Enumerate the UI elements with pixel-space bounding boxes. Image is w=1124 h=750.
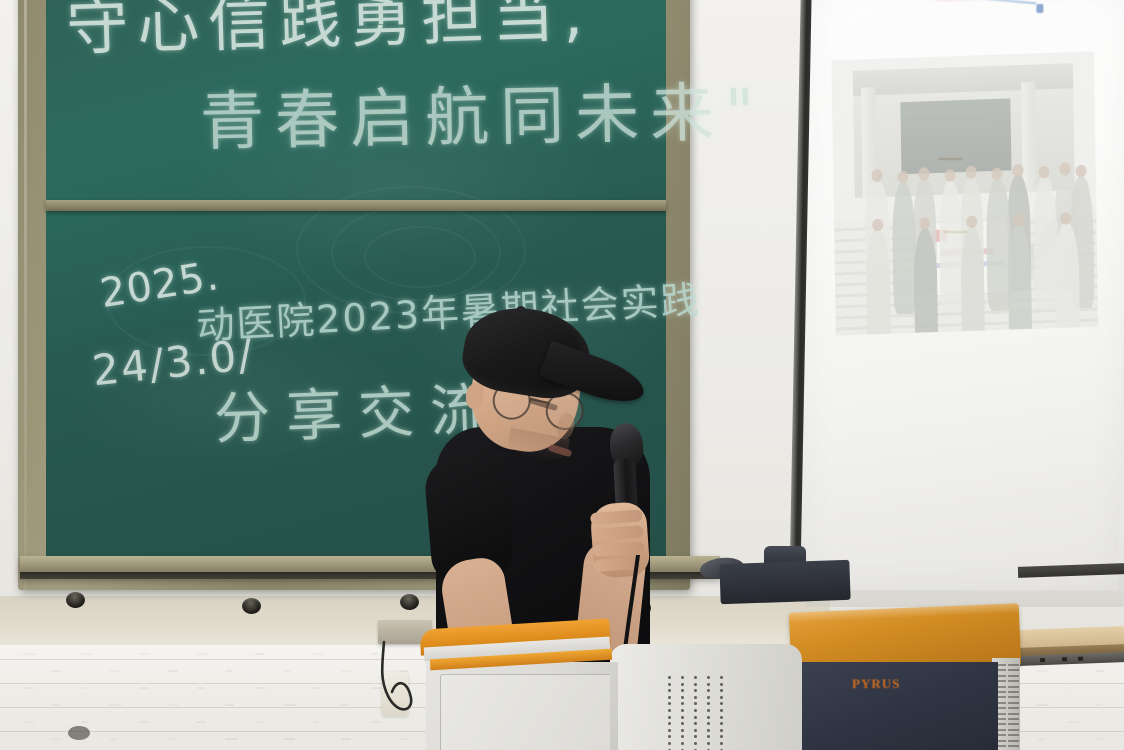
photo-person-head — [871, 169, 882, 182]
grille-hole — [720, 729, 723, 732]
grille-hole — [668, 729, 671, 732]
chalk-tray-hole — [242, 598, 261, 614]
photo-person — [891, 181, 917, 314]
chalk-text-line2: 青春启航同未来" — [199, 61, 766, 163]
grille-hole — [668, 702, 671, 705]
podium-vent-slot — [1008, 696, 1019, 698]
tile-texture-mark — [225, 738, 237, 740]
tile-texture-mark — [51, 738, 60, 740]
grille-hole — [707, 689, 710, 692]
grille-hole — [707, 729, 710, 732]
photo-person-head — [1013, 164, 1024, 177]
podium-vent-slot — [1008, 745, 1019, 747]
tile-texture-mark — [197, 653, 207, 655]
slide-blue-dot — [1036, 4, 1043, 13]
monitor-back — [719, 560, 850, 605]
podium-vent-slot — [1008, 734, 1019, 736]
podium-vent-slot — [1008, 713, 1019, 715]
tile-texture-mark — [313, 687, 321, 689]
podium-vent-slot — [1008, 675, 1019, 677]
tile-texture-mark — [81, 653, 92, 655]
grille-hole — [668, 689, 671, 692]
tile-texture-mark — [51, 670, 61, 672]
tile-texture-mark — [167, 670, 178, 672]
grille-hole — [707, 716, 710, 719]
tile-texture-mark — [139, 653, 150, 655]
grille-hole — [694, 689, 697, 692]
tile-texture-mark — [225, 704, 234, 706]
grille-hole — [668, 696, 671, 699]
chalkboard-divider — [46, 200, 666, 211]
grille-hole — [720, 696, 723, 699]
tile-texture-mark — [313, 653, 323, 655]
grille-hole — [681, 709, 684, 712]
grille-hole — [668, 716, 671, 719]
grille-hole — [720, 735, 723, 738]
tile-texture-mark — [283, 704, 296, 706]
grille-hole — [681, 716, 684, 719]
tile-texture-mark — [313, 721, 320, 723]
grille-hole — [681, 676, 684, 679]
podium-speaker-grille — [668, 676, 730, 750]
photo-column — [1021, 81, 1037, 191]
eraser-swirl — [364, 226, 476, 288]
grille-hole — [681, 729, 684, 732]
podium-vent-slot — [1008, 740, 1019, 742]
grille-hole — [707, 742, 710, 745]
tile-texture-mark — [23, 653, 36, 655]
grille-hole — [681, 702, 684, 705]
grille-hole — [668, 722, 671, 725]
grille-hole — [707, 696, 710, 699]
lecture-podium[interactable]: PYRUS — [420, 600, 1020, 750]
photo-person-head — [1076, 165, 1087, 178]
grille-hole — [720, 689, 723, 692]
tile-texture-mark — [225, 670, 233, 672]
tile-texture-mark — [255, 721, 263, 723]
grille-hole — [694, 696, 697, 699]
tile-texture-mark — [1095, 670, 1105, 672]
photo-person-head — [965, 166, 976, 179]
photo-person — [986, 178, 1012, 311]
tile-texture-mark — [341, 670, 351, 672]
grille-hole — [694, 676, 697, 679]
photo-person-head — [918, 167, 929, 180]
grille-hole — [707, 702, 710, 705]
grille-hole — [720, 709, 723, 712]
podium-vent-slot — [1008, 664, 1019, 666]
podium-vent-slot — [1008, 707, 1019, 709]
tile-texture-mark — [1067, 687, 1074, 689]
grille-hole — [694, 742, 697, 745]
grille-hole — [681, 689, 684, 692]
grille-hole — [720, 722, 723, 725]
tile-texture-mark — [109, 738, 117, 740]
chalk-tray-hole — [66, 592, 85, 608]
grille-hole — [681, 683, 684, 686]
tile-texture-mark — [81, 687, 91, 689]
grille-hole — [694, 735, 697, 738]
tile-texture-mark — [341, 704, 348, 706]
projection-screen[interactable] — [800, 0, 1124, 590]
tile-texture-mark — [51, 704, 58, 706]
tile-texture-mark — [255, 653, 264, 655]
grille-hole — [694, 716, 697, 719]
grille-hole — [668, 709, 671, 712]
tile-texture-mark — [341, 738, 351, 740]
podium-vent-slot — [1008, 686, 1019, 688]
grille-hole — [668, 676, 671, 679]
podium-logo: PYRUS — [852, 676, 900, 692]
tile-texture-mark — [167, 738, 175, 740]
photo-person — [938, 180, 964, 313]
tile-texture-mark — [109, 670, 120, 672]
slide-blue-line — [852, 0, 1036, 4]
grille-hole — [694, 709, 697, 712]
tile-texture-mark — [283, 670, 290, 672]
tile-texture-mark — [81, 721, 88, 723]
photo-person-head — [919, 217, 930, 230]
tile-texture-mark — [283, 738, 295, 740]
tile-texture-mark — [23, 721, 35, 723]
tile-texture-mark — [399, 738, 409, 740]
podium-vent-slot — [1008, 729, 1019, 731]
grille-hole — [707, 683, 710, 686]
tile-texture-mark — [1037, 670, 1048, 672]
tile-texture-mark — [139, 687, 148, 689]
grille-hole — [694, 722, 697, 725]
grille-hole — [681, 735, 684, 738]
baseball-cap-button — [516, 306, 526, 315]
grille-hole — [720, 683, 723, 686]
podium-vent-slot — [1008, 669, 1019, 671]
classroom-photo-scene: 守心信践勇担当, 青春启航同未来" 2025. 24/3.0/ 动医院2023年… — [0, 0, 1124, 750]
floor-object — [68, 726, 90, 740]
slide-group-photo — [832, 52, 1098, 336]
grille-hole — [707, 722, 710, 725]
photo-doorway — [900, 98, 1011, 173]
grille-hole — [694, 729, 697, 732]
grille-hole — [720, 676, 723, 679]
grille-hole — [681, 722, 684, 725]
tile-texture-mark — [23, 687, 35, 689]
podium-vent-slot — [1008, 723, 1019, 725]
tile-texture-mark — [167, 704, 179, 706]
tile-texture-mark — [1067, 721, 1078, 723]
photo-person-head — [872, 218, 883, 231]
grille-hole — [707, 709, 710, 712]
tile-texture-mark — [1037, 704, 1049, 706]
chalk-tray-hole — [400, 594, 419, 610]
grille-hole — [707, 735, 710, 738]
grille-hole — [720, 742, 723, 745]
podium-left-front-panel[interactable] — [440, 674, 610, 750]
grille-hole — [681, 742, 684, 745]
podium-vent-slot — [1008, 691, 1019, 693]
grille-hole — [694, 702, 697, 705]
grille-hole — [668, 735, 671, 738]
grille-hole — [720, 716, 723, 719]
tile-texture-mark — [255, 687, 265, 689]
tile-texture-mark — [1095, 738, 1107, 740]
grille-hole — [668, 683, 671, 686]
tile-texture-mark — [197, 687, 205, 689]
tile-texture-mark — [139, 721, 150, 723]
tile-texture-mark — [109, 704, 121, 706]
podium-vent-slot — [1008, 680, 1019, 682]
grille-hole — [694, 683, 697, 686]
grille-hole — [707, 676, 710, 679]
tile-texture-mark — [1037, 738, 1045, 740]
grille-hole — [720, 702, 723, 705]
podium-vent-slot — [1008, 702, 1019, 704]
grille-hole — [668, 742, 671, 745]
tile-texture-mark — [1095, 704, 1102, 706]
tile-texture-mark — [197, 721, 206, 723]
podium-vent-slot — [1008, 718, 1019, 720]
grille-hole — [681, 696, 684, 699]
